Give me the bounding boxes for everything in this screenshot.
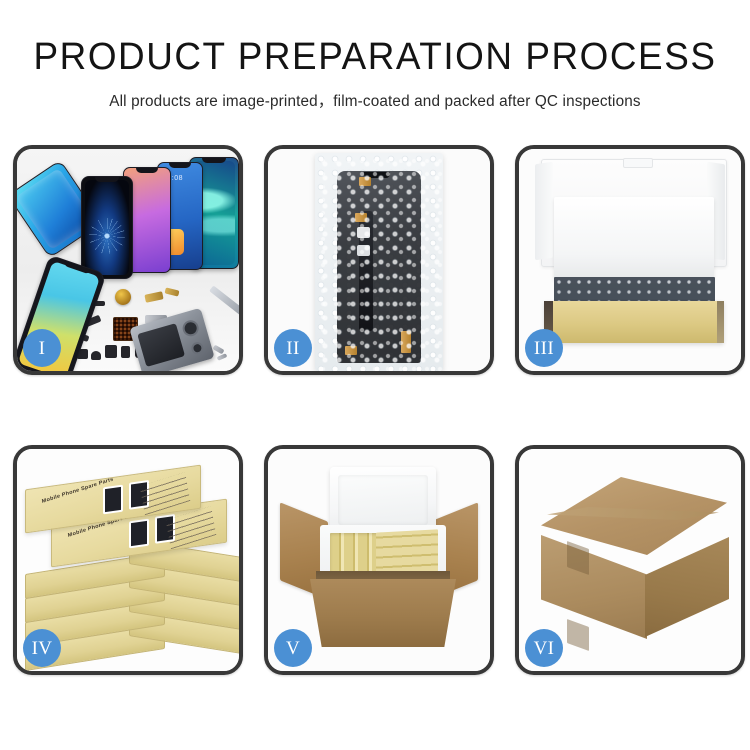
process-step-4[interactable]: Mobile Phone Spare Parts Mobile Phone Sp… (13, 445, 243, 675)
carton-body-icon (310, 579, 456, 647)
process-step-3[interactable]: III (515, 145, 745, 375)
carton-left-face-icon (541, 535, 647, 639)
page-header: PRODUCT PREPARATION PROCESS All products… (0, 0, 750, 111)
carton-right-face-icon (645, 537, 729, 637)
phone-chassis-icon (129, 308, 214, 371)
carton-seam-tab-2-icon (567, 619, 589, 651)
step-badge-2: II (274, 329, 312, 367)
box-flap-left-icon (535, 162, 553, 261)
bubble-wrap-layer-icon (554, 277, 715, 303)
bubble-wrap-bag-icon (315, 153, 443, 371)
speaker-mesh-icon (91, 351, 101, 360)
step-badge-3: III (525, 329, 563, 367)
screw-2-icon (217, 353, 228, 361)
page-title: PRODUCT PREPARATION PROCESS (11, 38, 739, 78)
gold-connector-icon (164, 287, 179, 296)
gold-flex-icon (144, 291, 163, 303)
process-step-5[interactable]: V (264, 445, 494, 675)
step-badge-5: V (274, 629, 312, 667)
kraft-box-front-icon (544, 301, 724, 343)
product-preparation-page: PRODUCT PREPARATION PROCESS All products… (0, 0, 750, 750)
packed-boxes-2-icon (376, 529, 438, 576)
vibrator-motor-icon (115, 289, 131, 305)
process-step-2[interactable]: II (264, 145, 494, 375)
page-subtitle: All products are image-printed，film-coat… (0, 89, 750, 111)
phone-cracked-screen-icon (81, 176, 133, 279)
foam-box-lid-icon (330, 467, 436, 533)
process-step-1[interactable]: 08:08 (13, 145, 243, 375)
step-badge-6: VI (525, 629, 563, 667)
step-badge-1: I (23, 329, 61, 367)
process-step-grid: 08:08 (13, 145, 745, 675)
process-step-6[interactable]: VI (515, 445, 745, 675)
sim-tray-icon (121, 346, 130, 358)
foam-sheet-icon (554, 197, 714, 279)
step-badge-4: IV (23, 629, 61, 667)
tweezers-icon (209, 285, 239, 315)
camera-module-icon (105, 345, 117, 358)
screw-icon (212, 345, 224, 355)
